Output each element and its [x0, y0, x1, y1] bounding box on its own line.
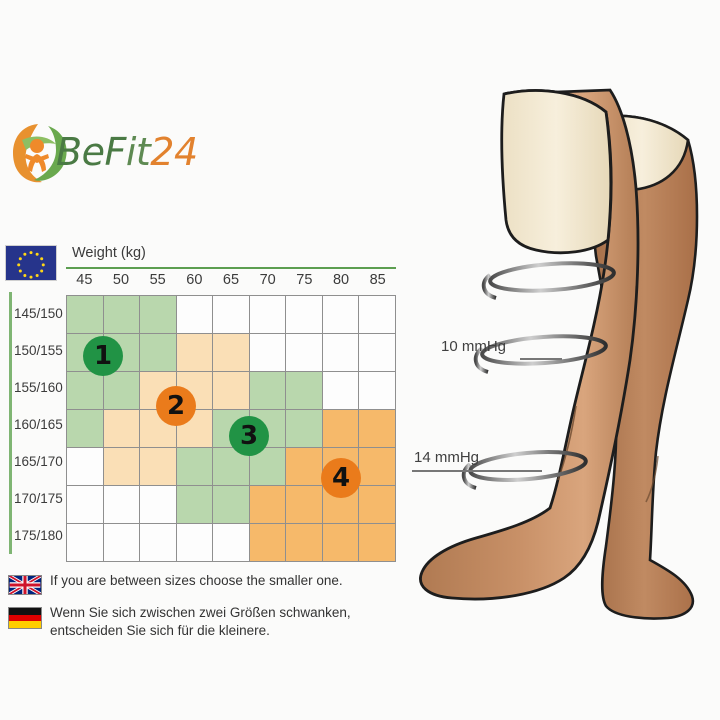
uk-flag-icon	[8, 575, 42, 595]
weight-column-header-70: 70	[249, 272, 286, 288]
height-row-header-175-180: 175/180	[14, 517, 70, 554]
size-chart-page: BeFit24 Weight (kg) 455055606570758085 1…	[0, 0, 720, 720]
size-cell-145-150-80[interactable]	[322, 296, 359, 334]
logo-text-it: it	[126, 130, 150, 174]
size-cell-160-165-50[interactable]	[103, 410, 140, 448]
eu-flag-icon	[5, 245, 57, 281]
size-cell-155-160-50[interactable]	[103, 372, 140, 410]
size-cell-155-160-85[interactable]	[359, 372, 396, 410]
size-badge-3[interactable]: 3	[229, 416, 269, 456]
size-cell-175-180-45[interactable]	[67, 524, 104, 562]
size-cell-160-165-45[interactable]	[67, 410, 104, 448]
size-cell-150-155-60[interactable]	[176, 334, 213, 372]
pressure-leader-lower	[412, 470, 542, 472]
size-cell-155-160-80[interactable]	[322, 372, 359, 410]
size-cell-155-160-75[interactable]	[286, 372, 323, 410]
brand-logo: BeFit24	[8, 118, 218, 190]
size-cell-145-150-85[interactable]	[359, 296, 396, 334]
pressure-label-lower: 14 mmHg	[414, 449, 479, 466]
size-cell-150-155-80[interactable]	[322, 334, 359, 372]
germany-flag-icon	[8, 607, 42, 629]
height-row-header-150-155: 150/155	[14, 332, 70, 369]
size-cell-175-180-70[interactable]	[249, 524, 286, 562]
table-row	[67, 296, 396, 334]
size-cell-165-170-75[interactable]	[286, 448, 323, 486]
weight-axis-label: Weight (kg)	[72, 245, 146, 261]
size-cell-165-170-45[interactable]	[67, 448, 104, 486]
table-row	[67, 524, 396, 562]
logo-text-f: F	[104, 130, 125, 174]
weight-column-headers: 455055606570758085	[66, 272, 396, 292]
size-cell-170-175-50[interactable]	[103, 486, 140, 524]
size-cell-150-155-85[interactable]	[359, 334, 396, 372]
height-row-header-155-160: 155/160	[14, 369, 70, 406]
de-band-black	[9, 608, 41, 615]
size-cell-150-155-75[interactable]	[286, 334, 323, 372]
size-cell-170-175-85[interactable]	[359, 486, 396, 524]
size-cell-150-155-65[interactable]	[213, 334, 250, 372]
logo-text-24: 24	[150, 130, 197, 174]
size-cell-145-150-60[interactable]	[176, 296, 213, 334]
weight-axis-rule	[66, 267, 396, 269]
eu-stars	[6, 246, 56, 280]
size-cell-150-155-70[interactable]	[249, 334, 286, 372]
compression-stocking-legs-illustration	[400, 60, 720, 680]
size-cell-175-180-60[interactable]	[176, 524, 213, 562]
weight-column-header-45: 45	[66, 272, 103, 288]
pressure-leader-upper	[520, 358, 562, 360]
pressure-label-upper: 10 mmHg	[441, 338, 506, 355]
size-cell-175-180-75[interactable]	[286, 524, 323, 562]
table-row	[67, 372, 396, 410]
size-cell-170-175-70[interactable]	[249, 486, 286, 524]
size-cell-150-155-55[interactable]	[140, 334, 177, 372]
size-cell-175-180-65[interactable]	[213, 524, 250, 562]
size-cell-175-180-80[interactable]	[322, 524, 359, 562]
de-band-gold	[9, 621, 41, 628]
size-cell-165-170-85[interactable]	[359, 448, 396, 486]
size-cell-145-150-65[interactable]	[213, 296, 250, 334]
height-row-header-160-165: 160/165	[14, 406, 70, 443]
size-cell-170-175-60[interactable]	[176, 486, 213, 524]
size-cell-165-170-55[interactable]	[140, 448, 177, 486]
weight-column-header-60: 60	[176, 272, 213, 288]
height-row-header-145-150: 145/150	[14, 295, 70, 332]
size-cell-160-165-85[interactable]	[359, 410, 396, 448]
weight-column-header-65: 65	[213, 272, 250, 288]
weight-column-header-75: 75	[286, 272, 323, 288]
weight-column-header-50: 50	[103, 272, 140, 288]
size-badge-4[interactable]: 4	[321, 458, 361, 498]
size-cell-155-160-70[interactable]	[249, 372, 286, 410]
size-cell-165-170-50[interactable]	[103, 448, 140, 486]
size-cell-145-150-45[interactable]	[67, 296, 104, 334]
size-badge-1[interactable]: 1	[83, 336, 123, 376]
size-cell-145-150-70[interactable]	[249, 296, 286, 334]
size-cell-145-150-75[interactable]	[286, 296, 323, 334]
size-cell-160-165-80[interactable]	[322, 410, 359, 448]
height-row-header-170-175: 170/175	[14, 480, 70, 517]
size-cell-175-180-55[interactable]	[140, 524, 177, 562]
size-cell-145-150-50[interactable]	[103, 296, 140, 334]
weight-column-header-55: 55	[139, 272, 176, 288]
size-cell-175-180-50[interactable]	[103, 524, 140, 562]
size-cell-170-175-65[interactable]	[213, 486, 250, 524]
height-row-headers: 145/150150/155155/160160/165165/170170/1…	[6, 295, 64, 554]
size-cell-170-175-45[interactable]	[67, 486, 104, 524]
size-cell-170-175-55[interactable]	[140, 486, 177, 524]
note-german: Wenn Sie sich zwischen zwei Größen schwa…	[50, 604, 351, 640]
brand-logo-text: BeFit24	[56, 130, 198, 174]
size-cell-165-170-60[interactable]	[176, 448, 213, 486]
de-band-red	[9, 615, 41, 622]
uk-flag-svg	[9, 576, 41, 594]
logo-text-be: Be	[56, 130, 104, 174]
size-cell-155-160-45[interactable]	[67, 372, 104, 410]
size-cell-160-165-75[interactable]	[286, 410, 323, 448]
size-cell-145-150-55[interactable]	[140, 296, 177, 334]
size-badge-2[interactable]: 2	[156, 386, 196, 426]
size-cell-155-160-65[interactable]	[213, 372, 250, 410]
size-cell-170-175-75[interactable]	[286, 486, 323, 524]
weight-column-header-80: 80	[323, 272, 360, 288]
note-english: If you are between sizes choose the smal…	[50, 572, 343, 590]
size-cell-175-180-85[interactable]	[359, 524, 396, 562]
weight-column-header-85: 85	[359, 272, 396, 288]
height-row-header-165-170: 165/170	[14, 443, 70, 480]
